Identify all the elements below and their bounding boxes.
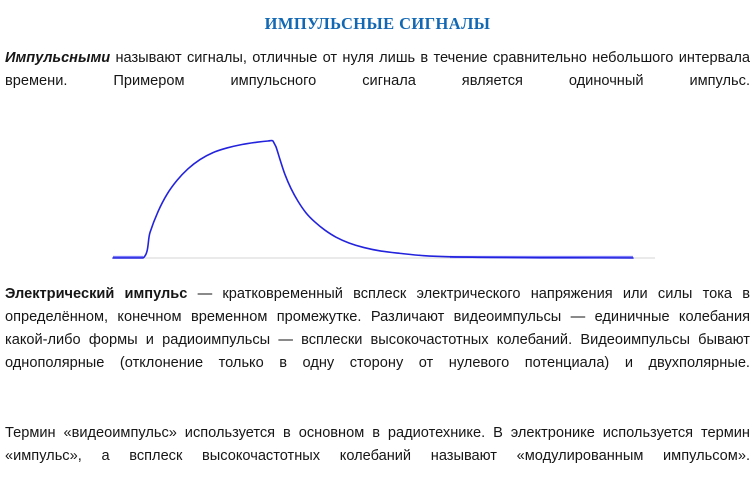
paragraph-term: Термин «видеоимпульс» используется в осн… (5, 422, 750, 492)
paragraph-term-body: Термин «видеоимпульс» используется в осн… (5, 425, 750, 464)
pulse-waveform-curve (113, 141, 633, 258)
paragraph-definition: Электрический импульс — кратковременный … (5, 283, 750, 399)
paragraph-intro-lead-term: Импульсными (5, 50, 110, 66)
pulse-waveform-chart (0, 118, 755, 264)
page-title: ИМПУЛЬСНЫЕ СИГНАЛЫ (0, 14, 755, 34)
figure-single-pulse (0, 118, 755, 264)
paragraph-intro-body: называют сигналы, отличные от нуля лишь … (5, 50, 750, 89)
document-page: ИМПУЛЬСНЫЕ СИГНАЛЫ Импульсными называют … (0, 0, 755, 496)
paragraph-intro: Импульсными называют сигналы, отличные о… (5, 47, 750, 117)
paragraph-definition-lead-term: Электрический импульс (5, 286, 187, 302)
